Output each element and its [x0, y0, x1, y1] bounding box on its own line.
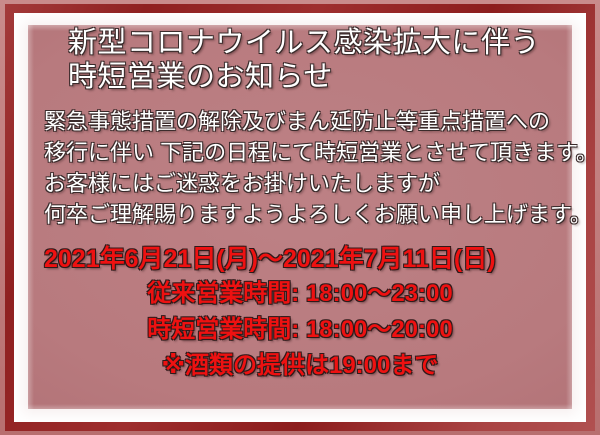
- poster-content: 新型コロナウイルス感染拡大に伴う 時短営業のお知らせ 緊急事態措置の解除及びまん…: [0, 0, 600, 435]
- schedule-shortened-hours: 時短営業時間: 18:00〜20:00: [30, 312, 570, 348]
- body-line-4: 何卒ご理解賜りますようよろしくお願い申し上げます。: [44, 199, 570, 230]
- body-line-1: 緊急事態措置の解除及びまん延防止等重点措置への: [44, 106, 570, 137]
- schedule-previous-hours: 従来営業時間: 18:00〜23:00: [30, 276, 570, 312]
- poster-schedule: 2021年6月21日(月)〜2021年7月11日(日) 従来営業時間: 18:0…: [30, 242, 570, 384]
- title-line-1: 新型コロナウイルス感染拡大に伴う: [68, 26, 570, 60]
- body-line-3: お客様にはご迷惑をお掛けいたしますが: [44, 168, 570, 199]
- poster-title: 新型コロナウイルス感染拡大に伴う 時短営業のお知らせ: [68, 26, 570, 94]
- schedule-alcohol-note: ※酒類の提供は19:00まで: [30, 348, 570, 384]
- title-line-2: 時短営業のお知らせ: [68, 60, 570, 94]
- poster-body: 緊急事態措置の解除及びまん延防止等重点措置への 移行に伴い 下記の日程にて時短営…: [44, 106, 570, 230]
- notice-poster: 新型コロナウイルス感染拡大に伴う 時短営業のお知らせ 緊急事態措置の解除及びまん…: [0, 0, 600, 435]
- schedule-date-range: 2021年6月21日(月)〜2021年7月11日(日): [44, 242, 570, 276]
- body-line-2: 移行に伴い 下記の日程にて時短営業とさせて頂きます。: [44, 137, 570, 168]
